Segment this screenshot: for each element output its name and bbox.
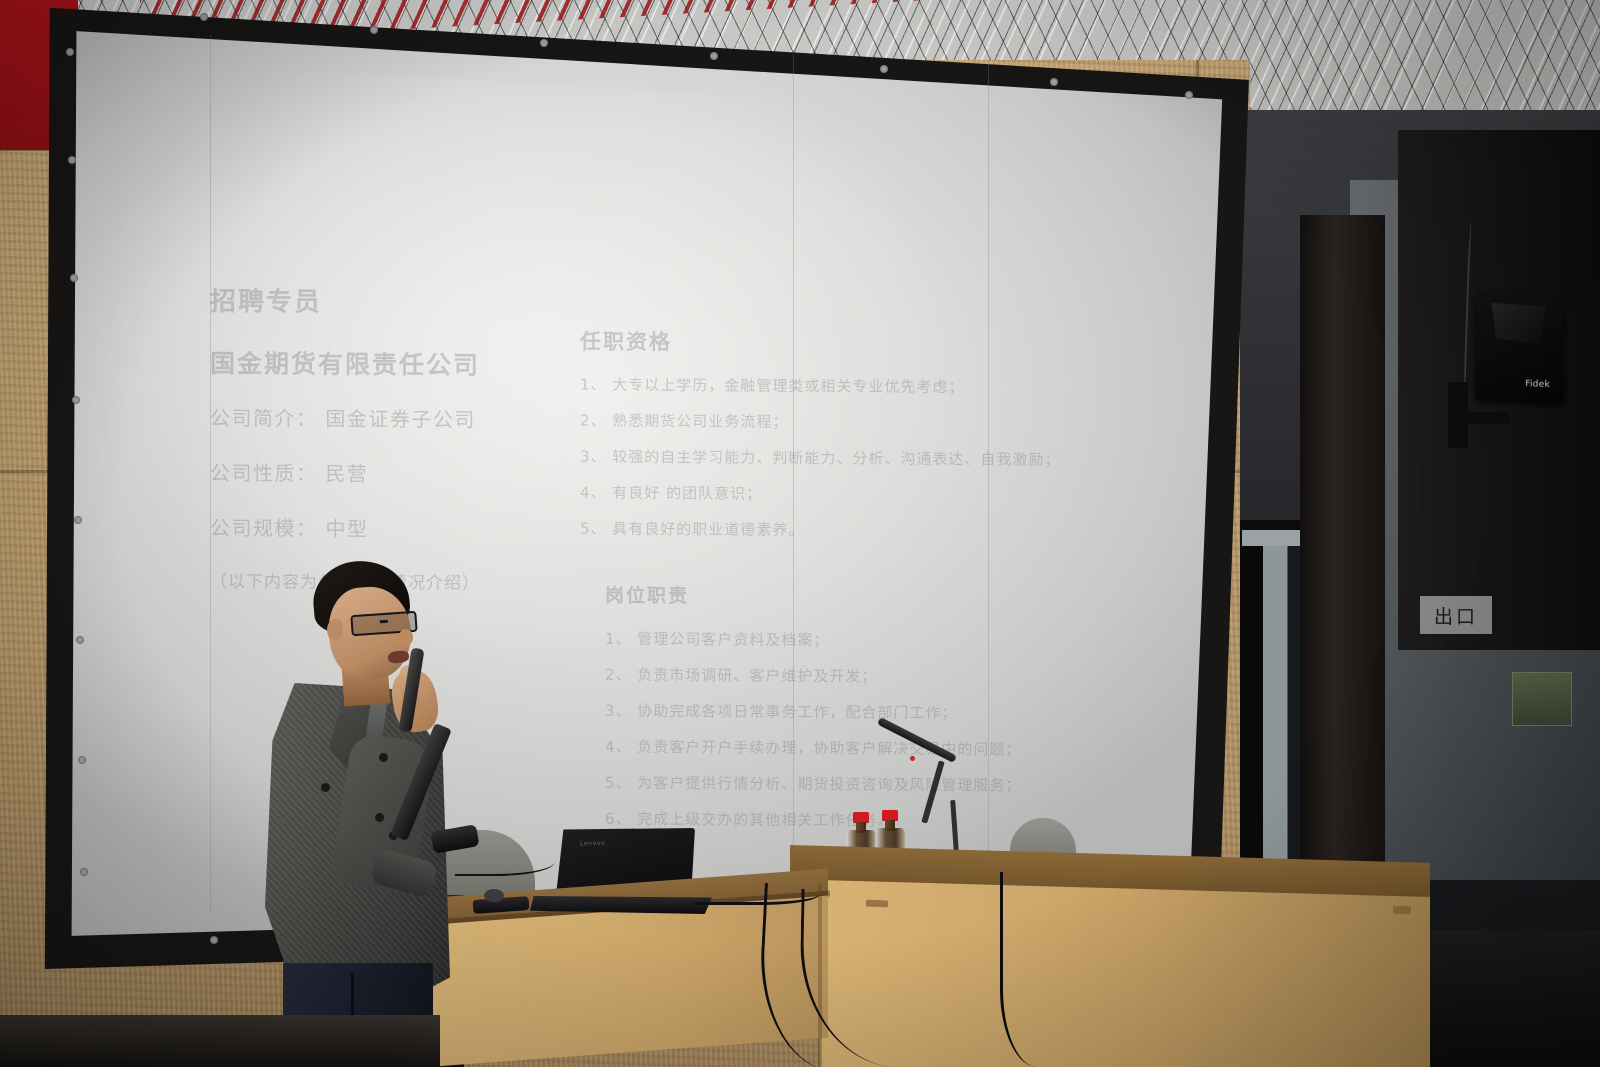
slide-right-item: 3、 较强的自主学习能力、判断能力、分析、沟通表达、自我激励； (580, 446, 1100, 471)
floor (0, 1015, 440, 1067)
coat-button (321, 783, 330, 792)
slide-right-column: 任职资格 1、 大专以上学历，金融管理类或相关专业优先考虑； 2、 熟悉期货公司… (580, 326, 1100, 558)
slide-lower-item: 2、 负责市场调研、客户维护及开发； (605, 664, 1125, 689)
slide-lower-item: 5、 为客户提供行情分析、期货投资咨询及风险管理服务； (605, 772, 1125, 797)
slide-left-line: 公司规模： 中型 (210, 512, 610, 544)
pa-speaker: Fidek (1475, 288, 1564, 404)
laptop-brand-label: Lenovo (580, 840, 614, 848)
slide-right-item: 1、 大专以上学历，金融管理类或相关专业优先考虑； (580, 374, 1100, 399)
coat-button (379, 753, 388, 762)
slide-left-title: 国金期货有限责任公司 (210, 344, 610, 383)
microphone-led-indicator (910, 756, 915, 761)
exit-sign: 出口 (1420, 596, 1492, 634)
slide-left-line: 公司简介： 国金证券子公司 (210, 402, 610, 434)
presenter-nose (399, 629, 413, 645)
screen-grommet (1185, 91, 1193, 99)
floor-cable (1000, 872, 1093, 1067)
slide-lower-item: 4、 负责客户开户手续办理，协助客户解决交易中的问题； (605, 736, 1125, 761)
coat-button (375, 813, 384, 822)
slide-lower-heading: 岗位职责 (605, 581, 1125, 612)
screen-grommet (370, 26, 378, 34)
slide-lower-right-column: 岗位职责 1、 管理公司客户资料及档案； 2、 负责市场调研、客户维护及开发； … (605, 581, 1125, 848)
slide-right-item: 4、 有良好 的团队意识； (580, 482, 1100, 507)
screen-grommet (68, 156, 76, 164)
screen-grommet (210, 936, 218, 944)
photo-scene: 出口 Fidek 招 (0, 0, 1600, 1067)
presenter-mouth (387, 650, 409, 664)
presenter (255, 555, 505, 1067)
slide-lower-item: 3、 协助完成各项日常事务工作，配合部门工作； (605, 700, 1125, 725)
screen-grommet (880, 65, 888, 73)
wall-picture (1512, 672, 1572, 726)
screen-grommet (200, 13, 208, 21)
slide-lower-item: 1、 管理公司客户资料及档案； (605, 628, 1125, 653)
screen-grommet (66, 48, 74, 56)
speaker-horn-icon (1488, 301, 1550, 346)
slide-right-item: 2、 熟悉期货公司业务流程； (580, 410, 1100, 435)
screen-grommet (540, 39, 548, 47)
desk-notch (1393, 906, 1411, 914)
slide-right-heading: 任职资格 (580, 326, 1100, 360)
speaker-bracket-arm (1458, 412, 1510, 424)
slide-right-item: 5、 具有良好的职业道德素养。 (580, 518, 1100, 543)
presenter-ear (327, 619, 343, 641)
slide-left-heading: 招聘专员 (210, 281, 610, 321)
screen-grommet (1050, 78, 1058, 86)
projection-screen: 招聘专员 国金期货有限责任公司 公司简介： 国金证券子公司 公司性质： 民营 公… (40, 0, 1255, 971)
slide-left-line: 公司性质： 民营 (210, 457, 610, 489)
screen-grommet (710, 52, 718, 60)
speaker-brand-label: Fidek (1518, 377, 1558, 394)
